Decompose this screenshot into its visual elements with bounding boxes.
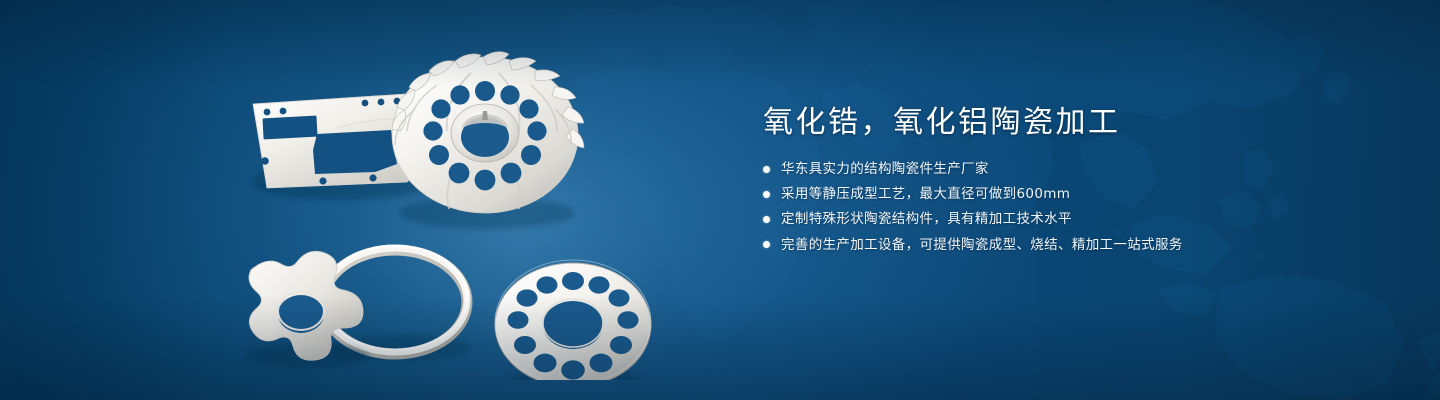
ceramic-products-photo: [225, 30, 725, 380]
feature-text: 定制特殊形状陶瓷结构件，具有精加工技术水平: [781, 210, 1072, 228]
feature-text: 采用等静压成型工艺，最大直径可做到600mm: [781, 185, 1070, 203]
bullet-dot-icon: [763, 216, 770, 223]
banner-copy-block: 氧化锆，氧化铝陶瓷加工 华东具实力的结构陶瓷件生产厂家 采用等静压成型工艺，最大…: [763, 108, 1363, 254]
hero-banner: 氧化锆，氧化铝陶瓷加工 华东具实力的结构陶瓷件生产厂家 采用等静压成型工艺，最大…: [0, 0, 1440, 400]
feature-text: 华东具实力的结构陶瓷件生产厂家: [781, 160, 989, 178]
page-title: 氧化锆，氧化铝陶瓷加工: [763, 108, 1363, 138]
list-item: 完善的生产加工设备，可提供陶瓷成型、烧结、精加工一站式服务: [763, 236, 1363, 254]
ceramic-impeller-disc: [392, 52, 584, 229]
list-item: 华东具实力的结构陶瓷件生产厂家: [763, 160, 1363, 178]
feature-text: 完善的生产加工设备，可提供陶瓷成型、烧结、精加工一站式服务: [781, 236, 1183, 254]
ceramic-perforated-disc: [495, 260, 651, 380]
bullet-dot-icon: [763, 241, 770, 248]
bullet-dot-icon: [763, 191, 770, 198]
feature-list: 华东具实力的结构陶瓷件生产厂家 采用等静压成型工艺，最大直径可做到600mm 定…: [763, 160, 1363, 254]
list-item: 采用等静压成型工艺，最大直径可做到600mm: [763, 185, 1363, 203]
ceramic-cross-plate: [245, 251, 369, 368]
bullet-dot-icon: [763, 166, 770, 173]
list-item: 定制特殊形状陶瓷结构件，具有精加工技术水平: [763, 210, 1363, 228]
